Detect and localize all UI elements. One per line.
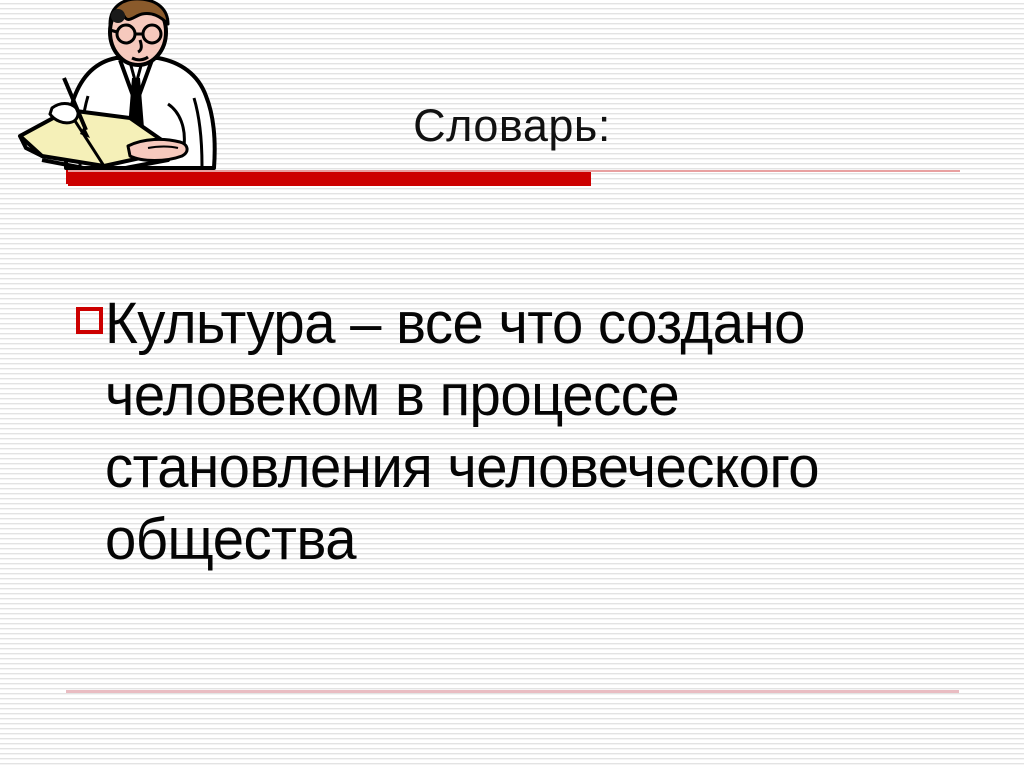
page-title: Словарь: bbox=[413, 100, 611, 152]
slide-canvas: Словарь: Культура – все что создано чело… bbox=[0, 0, 1024, 767]
title-block: Словарь: bbox=[0, 100, 1024, 160]
title-underline-accent-bar bbox=[68, 172, 591, 186]
bullet-list-item: Культура – все что создано человеком в п… bbox=[76, 288, 976, 576]
square-outline-bullet-icon bbox=[76, 307, 103, 334]
body-block: Культура – все что создано человеком в п… bbox=[76, 288, 976, 576]
footer-rule bbox=[66, 690, 959, 693]
scholar-writing-in-book-icon bbox=[8, 0, 248, 190]
definition-text: Культура – все что создано человеком в п… bbox=[105, 288, 950, 576]
